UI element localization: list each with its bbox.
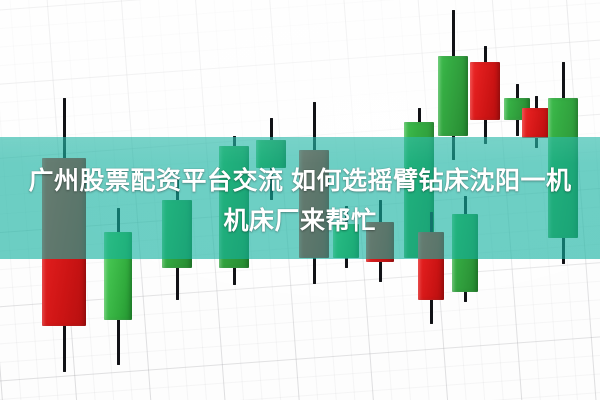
candle-0 <box>42 98 86 372</box>
candle-7 <box>366 200 394 282</box>
candle-3 <box>219 136 249 285</box>
candle-5 <box>299 102 329 284</box>
candle-6 <box>333 206 359 268</box>
candle-10 <box>470 46 500 144</box>
candle-1 <box>104 208 132 365</box>
candle-body-up <box>333 224 359 258</box>
candle-15 <box>548 62 578 264</box>
candle-body-down <box>42 158 86 326</box>
candle-13 <box>418 212 444 324</box>
candle-body-down <box>366 222 394 262</box>
candle-body-down <box>522 108 550 138</box>
candle-body-down <box>299 150 329 258</box>
candle-body-up <box>219 146 249 268</box>
candlestick-series <box>0 0 600 400</box>
candle-body-down <box>418 232 444 300</box>
candle-body-up <box>104 232 132 320</box>
candle-9 <box>438 10 468 160</box>
candle-body-up <box>548 98 578 238</box>
candlestick-banner: 广州股票配资平台交流 如何选摇臂钻床沈阳一机 机床厂来帮忙 <box>0 0 600 400</box>
candle-body-up <box>438 56 468 136</box>
candle-14 <box>452 196 478 302</box>
candle-body-up <box>452 214 478 292</box>
candle-body-down <box>470 62 500 120</box>
candle-body-up <box>162 200 192 268</box>
candle-4 <box>256 118 286 200</box>
candle-12 <box>522 96 550 148</box>
candle-2 <box>162 176 192 300</box>
candle-body-up <box>256 140 286 168</box>
